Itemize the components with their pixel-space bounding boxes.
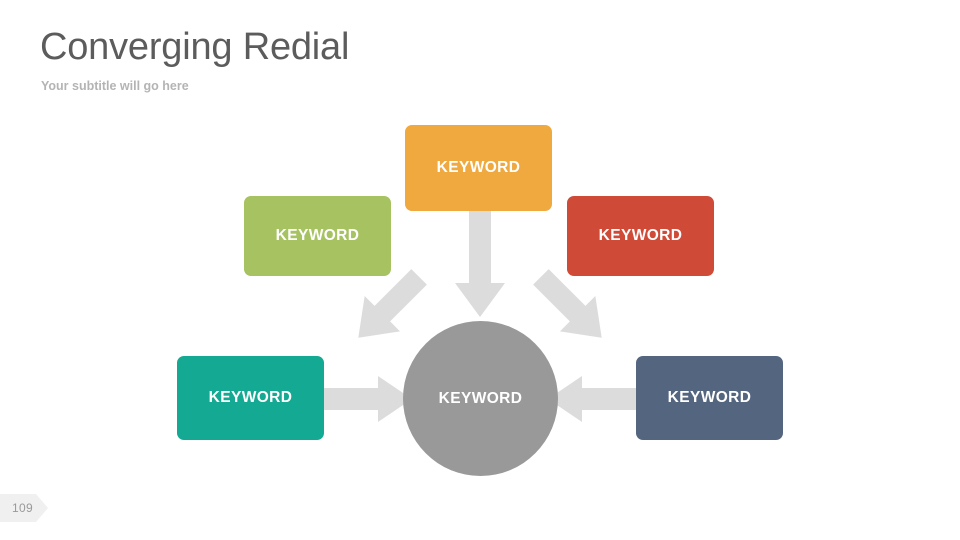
node-upper-right-keyword[interactable]: KEYWORD — [567, 196, 714, 276]
arrow-down-from-top-node — [455, 207, 505, 325]
arrow-down-left-from-upper-right-node — [522, 266, 622, 351]
page-number-label: 109 — [12, 501, 33, 515]
node-upper-left-label: KEYWORD — [276, 227, 360, 245]
node-center-keyword[interactable]: KEYWORD — [403, 321, 558, 476]
node-upper-right-label: KEYWORD — [599, 227, 683, 245]
node-left-label: KEYWORD — [209, 389, 293, 407]
node-right-label: KEYWORD — [668, 389, 752, 407]
node-left-keyword[interactable]: KEYWORD — [177, 356, 324, 440]
node-top-keyword[interactable]: KEYWORD — [405, 125, 552, 211]
arrow-down-right-from-upper-left-node — [338, 266, 438, 351]
converging-radial-diagram: KEYWORD KEYWORD KEYWORD KEYWORD KEYWORD … — [0, 0, 960, 540]
arrow-right-from-left-node — [324, 376, 412, 422]
node-center-label: KEYWORD — [439, 390, 523, 408]
arrow-left-from-right-node — [548, 376, 636, 422]
node-right-keyword[interactable]: KEYWORD — [636, 356, 783, 440]
node-upper-left-keyword[interactable]: KEYWORD — [244, 196, 391, 276]
node-top-label: KEYWORD — [437, 159, 521, 177]
